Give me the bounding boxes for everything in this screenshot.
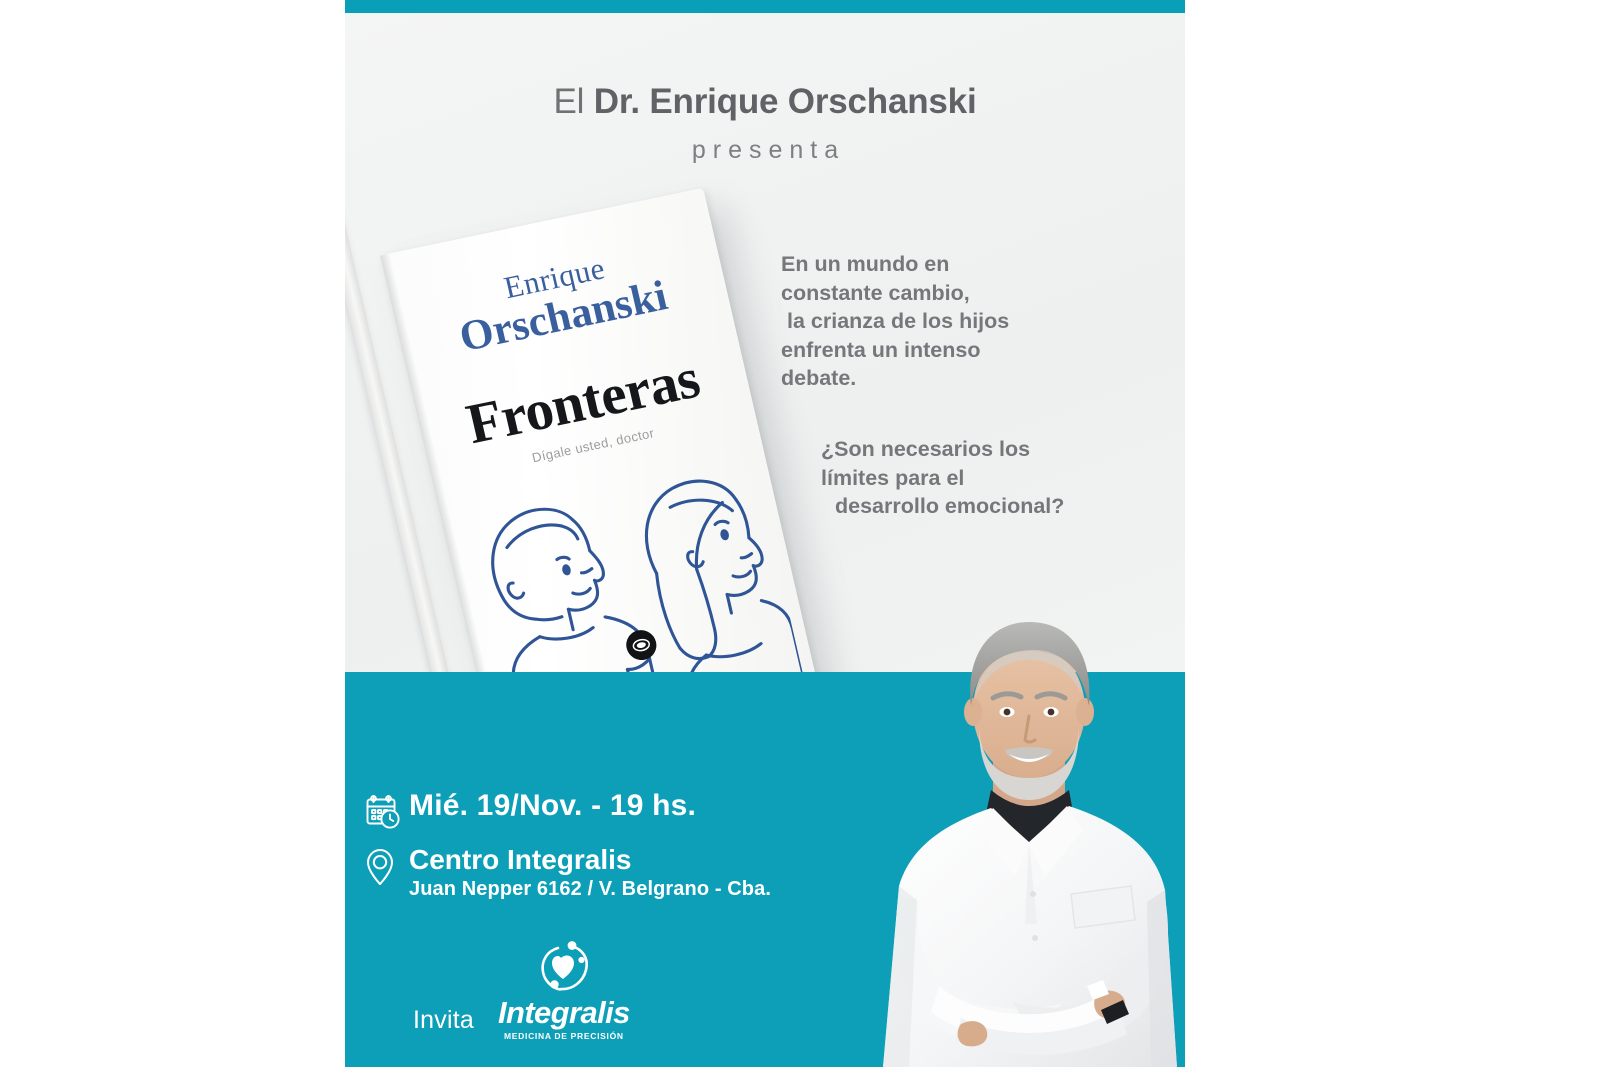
poster-canvas: El Dr. Enrique Orschanski presenta Enriq…	[0, 0, 1600, 1067]
event-venue-block: Centro Integralis Juan Nepper 6162 / V. …	[409, 845, 771, 901]
top-accent-bar	[345, 0, 1185, 13]
headline-prefix: El	[554, 82, 594, 121]
integralis-tagline: MEDICINA DE PRECISIÓN	[498, 1031, 630, 1041]
copy-line: En un mundo en	[781, 250, 1133, 279]
integralis-logo: Integralis MEDICINA DE PRECISIÓN	[498, 940, 630, 1041]
publisher-mark-icon	[629, 633, 653, 657]
copy-line: ¿Son necesarios los	[821, 435, 1133, 464]
location-pin-icon	[363, 845, 409, 892]
description-paragraph-1: En un mundo en constante cambio, la cria…	[773, 250, 1133, 393]
description-paragraph-2: ¿Son necesarios los límites para el desa…	[773, 435, 1133, 521]
event-date-row: Mié. 19/Nov. - 19 hs.	[363, 790, 923, 835]
event-location-row: Centro Integralis Juan Nepper 6162 / V. …	[363, 845, 923, 901]
copy-line: constante cambio,	[781, 279, 1133, 308]
copy-line: debate.	[781, 364, 1133, 393]
copy-line: enfrenta un intenso	[781, 336, 1133, 365]
copy-line: límites para el	[821, 464, 1133, 493]
copy-line: la crianza de los hijos	[781, 307, 1133, 336]
headline-speaker-name: Dr. Enrique Orschanski	[594, 82, 977, 121]
event-info: Mié. 19/Nov. - 19 hs. Centro Integralis	[363, 790, 923, 911]
event-poster: El Dr. Enrique Orschanski presenta Enriq…	[345, 0, 1185, 1067]
calendar-clock-icon	[363, 790, 409, 835]
integralis-mark-icon	[534, 940, 594, 996]
event-venue: Centro Integralis	[409, 845, 771, 876]
invita-label: Invita	[413, 1006, 474, 1041]
integralis-name: Integralis	[498, 997, 630, 1028]
speaker-photo	[865, 594, 1185, 1067]
event-address: Juan Nepper 6162 / V. Belgrano - Cba.	[409, 878, 771, 901]
copy-line: desarrollo emocional?	[821, 492, 1133, 521]
sponsor-block: Invita Integralis MEDICINA DE PRECISIÓN	[413, 940, 630, 1041]
description-copy: En un mundo en constante cambio, la cria…	[773, 250, 1133, 521]
presenta-label: presenta	[345, 136, 1185, 165]
event-date: Mié. 19/Nov. - 19 hs.	[409, 790, 696, 822]
page-title: El Dr. Enrique Orschanski	[345, 82, 1185, 122]
headline-block: El Dr. Enrique Orschanski presenta	[345, 82, 1185, 165]
